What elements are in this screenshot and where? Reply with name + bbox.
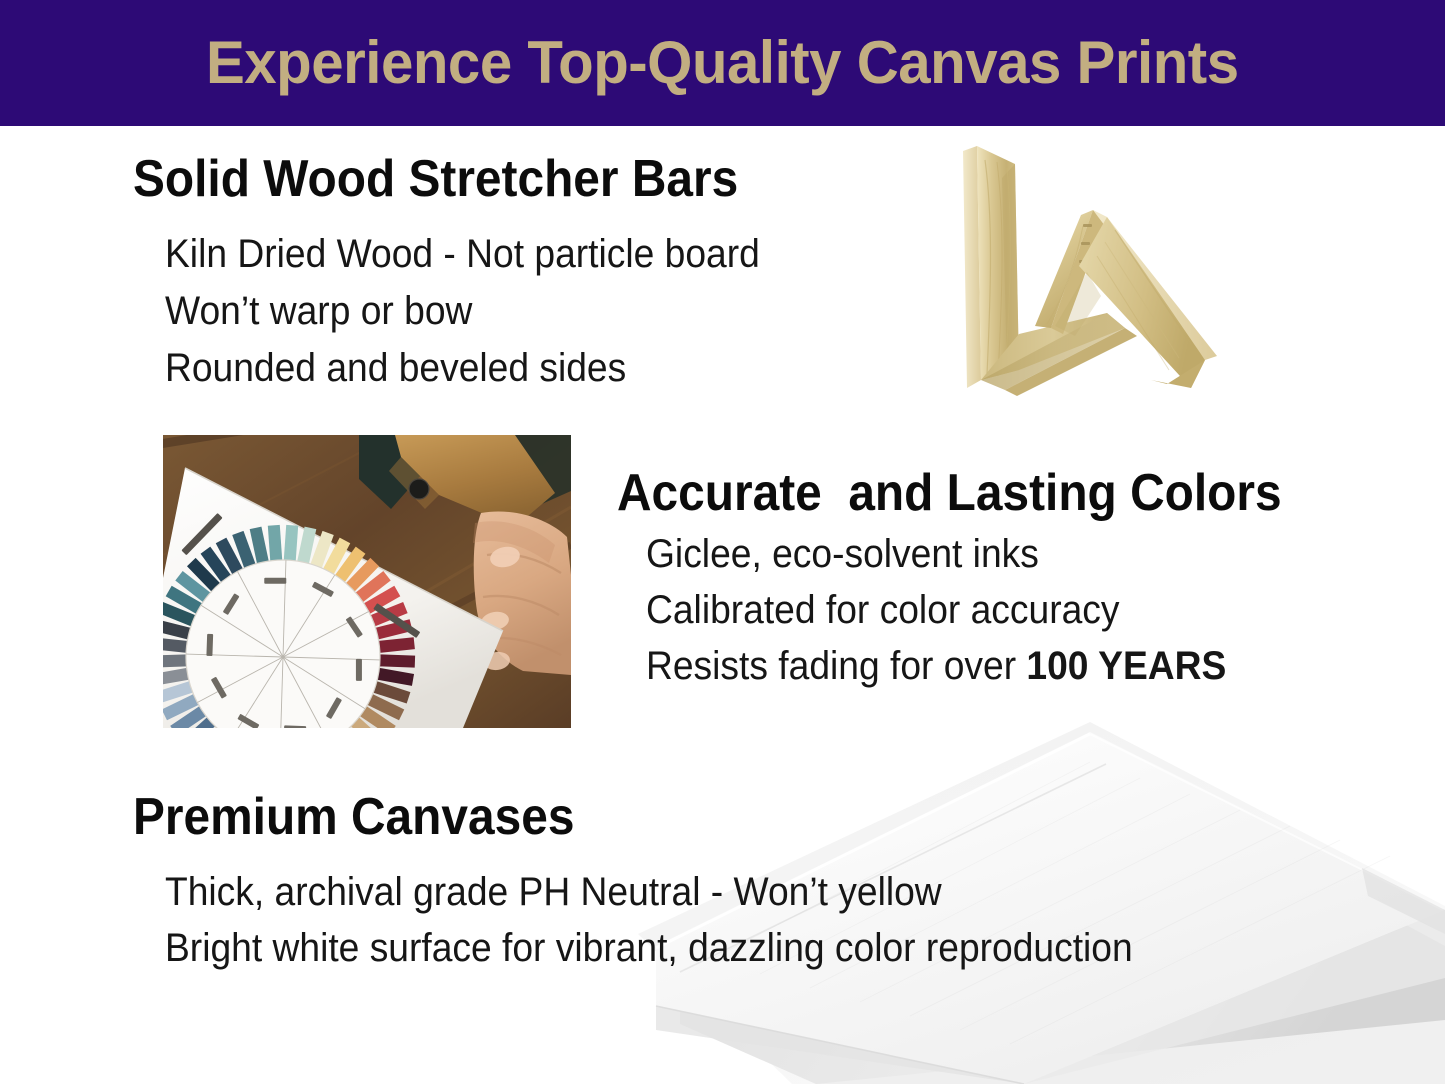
bullet-resists-fading: Resists fading for over 100 YEARS: [646, 645, 1226, 687]
bullet-bright-white-surface: Bright white surface for vibrant, dazzli…: [165, 927, 1133, 969]
header-banner: Experience Top-Quality Canvas Prints: [0, 0, 1445, 126]
section-heading-premium-canvases: Premium Canvases: [133, 790, 574, 845]
page-title: Experience Top-Quality Canvas Prints: [206, 33, 1239, 93]
infographic-page: Experience Top-Quality Canvas Prints Sol…: [0, 0, 1445, 1084]
bullet-resists-fading-text: Resists fading for over: [646, 644, 1026, 688]
bullet-kiln-dried-wood: Kiln Dried Wood - Not particle board: [165, 233, 760, 275]
bullet-giclee-inks: Giclee, eco-solvent inks: [646, 533, 1039, 575]
color-wheel-photo: [163, 435, 571, 728]
section-heading-accurate-colors: Accurate and Lasting Colors: [617, 466, 1282, 521]
bullet-wont-warp: Won’t warp or bow: [165, 290, 472, 332]
bullet-rounded-beveled: Rounded and beveled sides: [165, 347, 626, 389]
bullet-archival-ph-neutral: Thick, archival grade PH Neutral - Won’t…: [165, 871, 942, 913]
emphasis-100-years: 100 YEARS: [1026, 644, 1226, 688]
wood-stretcher-bars-photo: [955, 138, 1225, 400]
section-heading-stretcher-bars: Solid Wood Stretcher Bars: [133, 152, 738, 207]
bullet-calibrated-accuracy: Calibrated for color accuracy: [646, 589, 1119, 631]
